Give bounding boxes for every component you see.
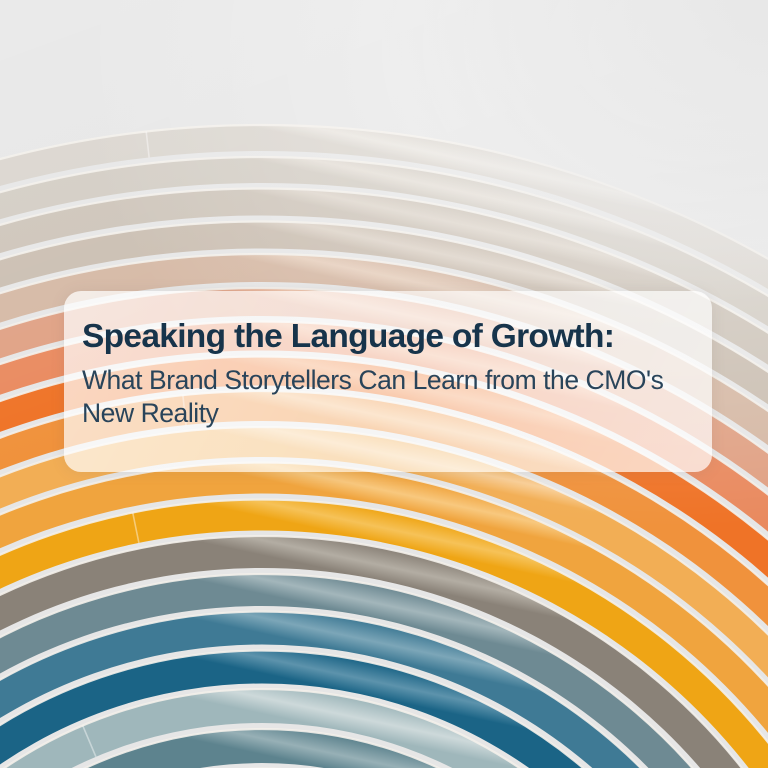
poster-canvas: Speaking the Language of Growth: What Br… — [0, 0, 768, 768]
page-title: Speaking the Language of Growth: — [82, 317, 682, 357]
page-subtitle: What Brand Storytellers Can Learn from t… — [82, 364, 672, 430]
headline-card: Speaking the Language of Growth: What Br… — [64, 291, 712, 472]
